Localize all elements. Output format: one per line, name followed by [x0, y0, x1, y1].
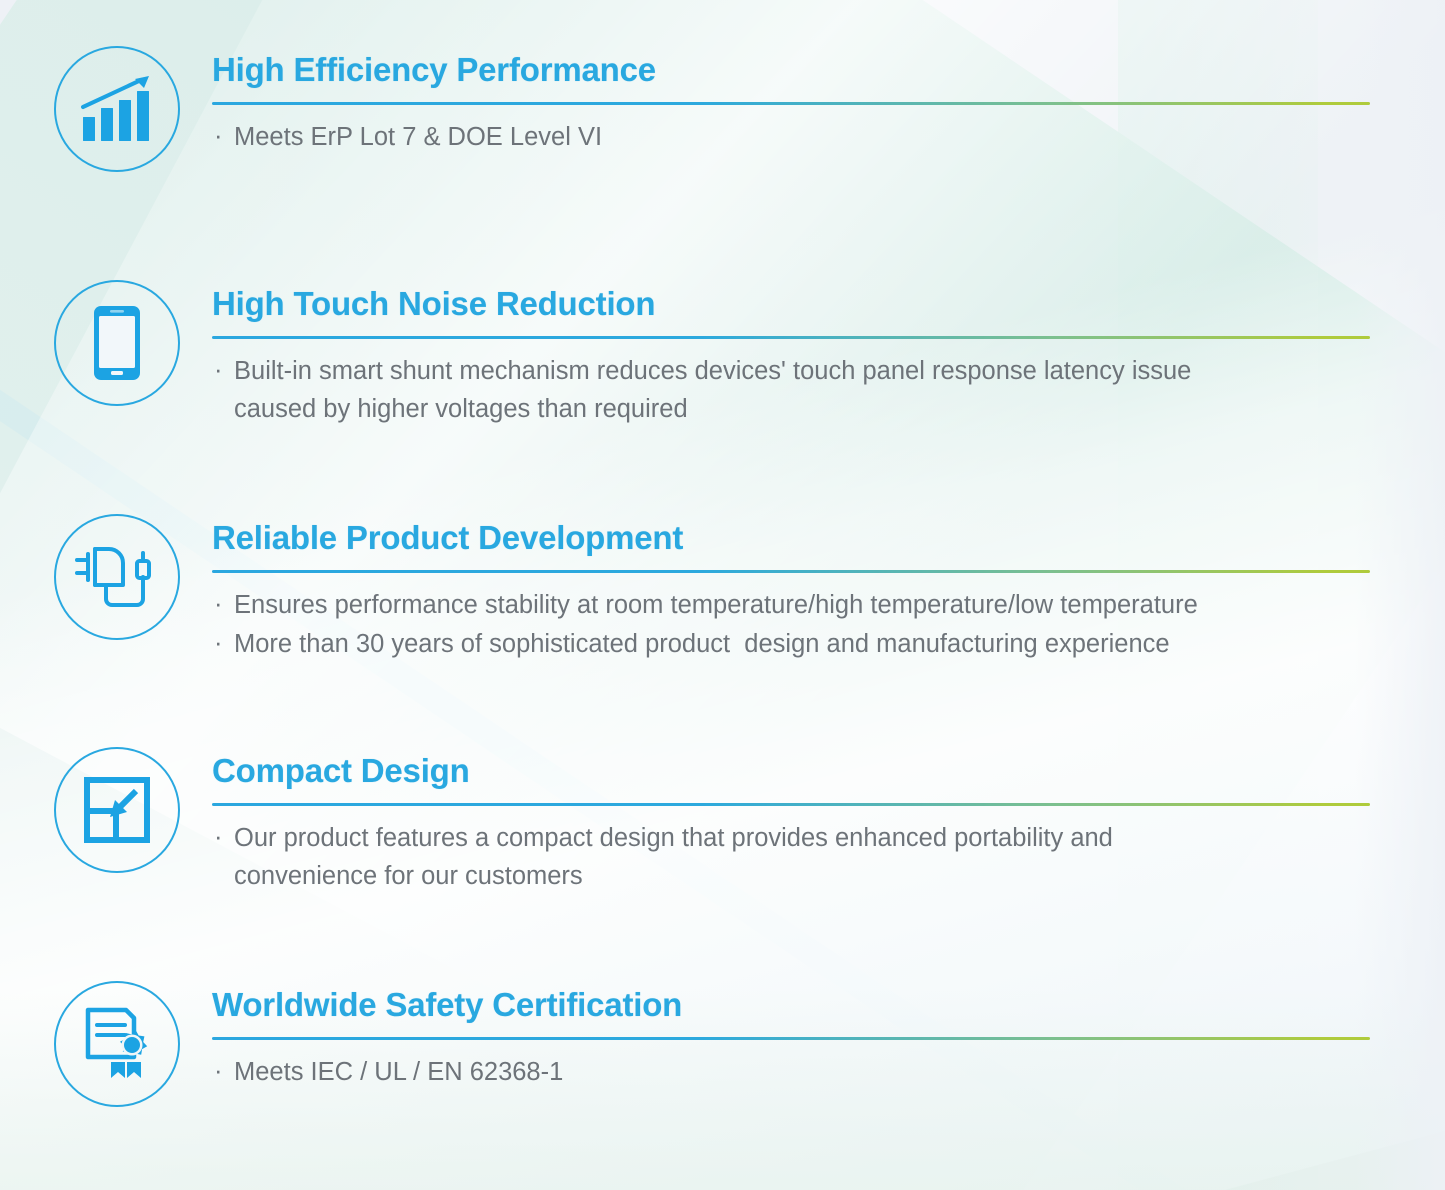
compact-resize-icon: [54, 747, 180, 873]
feature-bullets: Our product features a compact design th…: [212, 820, 1445, 895]
power-adapter-icon: [54, 514, 180, 640]
feature-divider: [212, 803, 1370, 806]
feature-bullet: Ensures performance stability at room te…: [212, 587, 1445, 625]
feature-bullet: More than 30 years of sophisticated prod…: [212, 626, 1445, 664]
feature-title: High Touch Noise Reduction: [212, 286, 1445, 323]
feature-item-high-efficiency-performance: High Efficiency Performance Meets ErP Lo…: [0, 46, 1445, 172]
feature-title: Worldwide Safety Certification: [212, 987, 1445, 1024]
bar-chart-growth-icon: [54, 46, 180, 172]
feature-item-compact-design: Compact Design Our product features a co…: [0, 747, 1445, 895]
feature-bullet: Meets IEC / UL / EN 62368-1: [212, 1054, 1445, 1092]
feature-bullet: Built-in smart shunt mechanism reduces d…: [212, 353, 1445, 428]
feature-divider: [212, 336, 1370, 339]
feature-bullets: Meets ErP Lot 7 & DOE Level VI: [212, 119, 1445, 157]
feature-item-high-touch-noise-reduction: High Touch Noise Reduction Built-in smar…: [0, 280, 1445, 428]
feature-item-reliable-product-development: Reliable Product Development Ensures per…: [0, 514, 1445, 663]
feature-body: High Efficiency Performance Meets ErP Lo…: [212, 46, 1445, 157]
feature-bullet: Meets ErP Lot 7 & DOE Level VI: [212, 119, 1445, 157]
feature-bullets: Ensures performance stability at room te…: [212, 587, 1445, 663]
feature-title: Compact Design: [212, 753, 1445, 790]
feature-divider: [212, 102, 1370, 105]
feature-body: High Touch Noise Reduction Built-in smar…: [212, 280, 1445, 428]
feature-body: Compact Design Our product features a co…: [212, 747, 1445, 895]
certificate-seal-icon: [54, 981, 180, 1107]
smartphone-icon: [54, 280, 180, 406]
feature-bullets: Meets IEC / UL / EN 62368-1: [212, 1054, 1445, 1092]
feature-highlights-page: High Efficiency Performance Meets ErP Lo…: [0, 0, 1445, 1190]
feature-bullets: Built-in smart shunt mechanism reduces d…: [212, 353, 1445, 428]
feature-bullet: Our product features a compact design th…: [212, 820, 1445, 895]
feature-divider: [212, 570, 1370, 573]
feature-body: Worldwide Safety Certification Meets IEC…: [212, 981, 1445, 1092]
feature-item-worldwide-safety-certification: Worldwide Safety Certification Meets IEC…: [0, 981, 1445, 1107]
feature-title: Reliable Product Development: [212, 520, 1445, 557]
feature-title: High Efficiency Performance: [212, 52, 1445, 89]
feature-body: Reliable Product Development Ensures per…: [212, 514, 1445, 663]
feature-divider: [212, 1037, 1370, 1040]
